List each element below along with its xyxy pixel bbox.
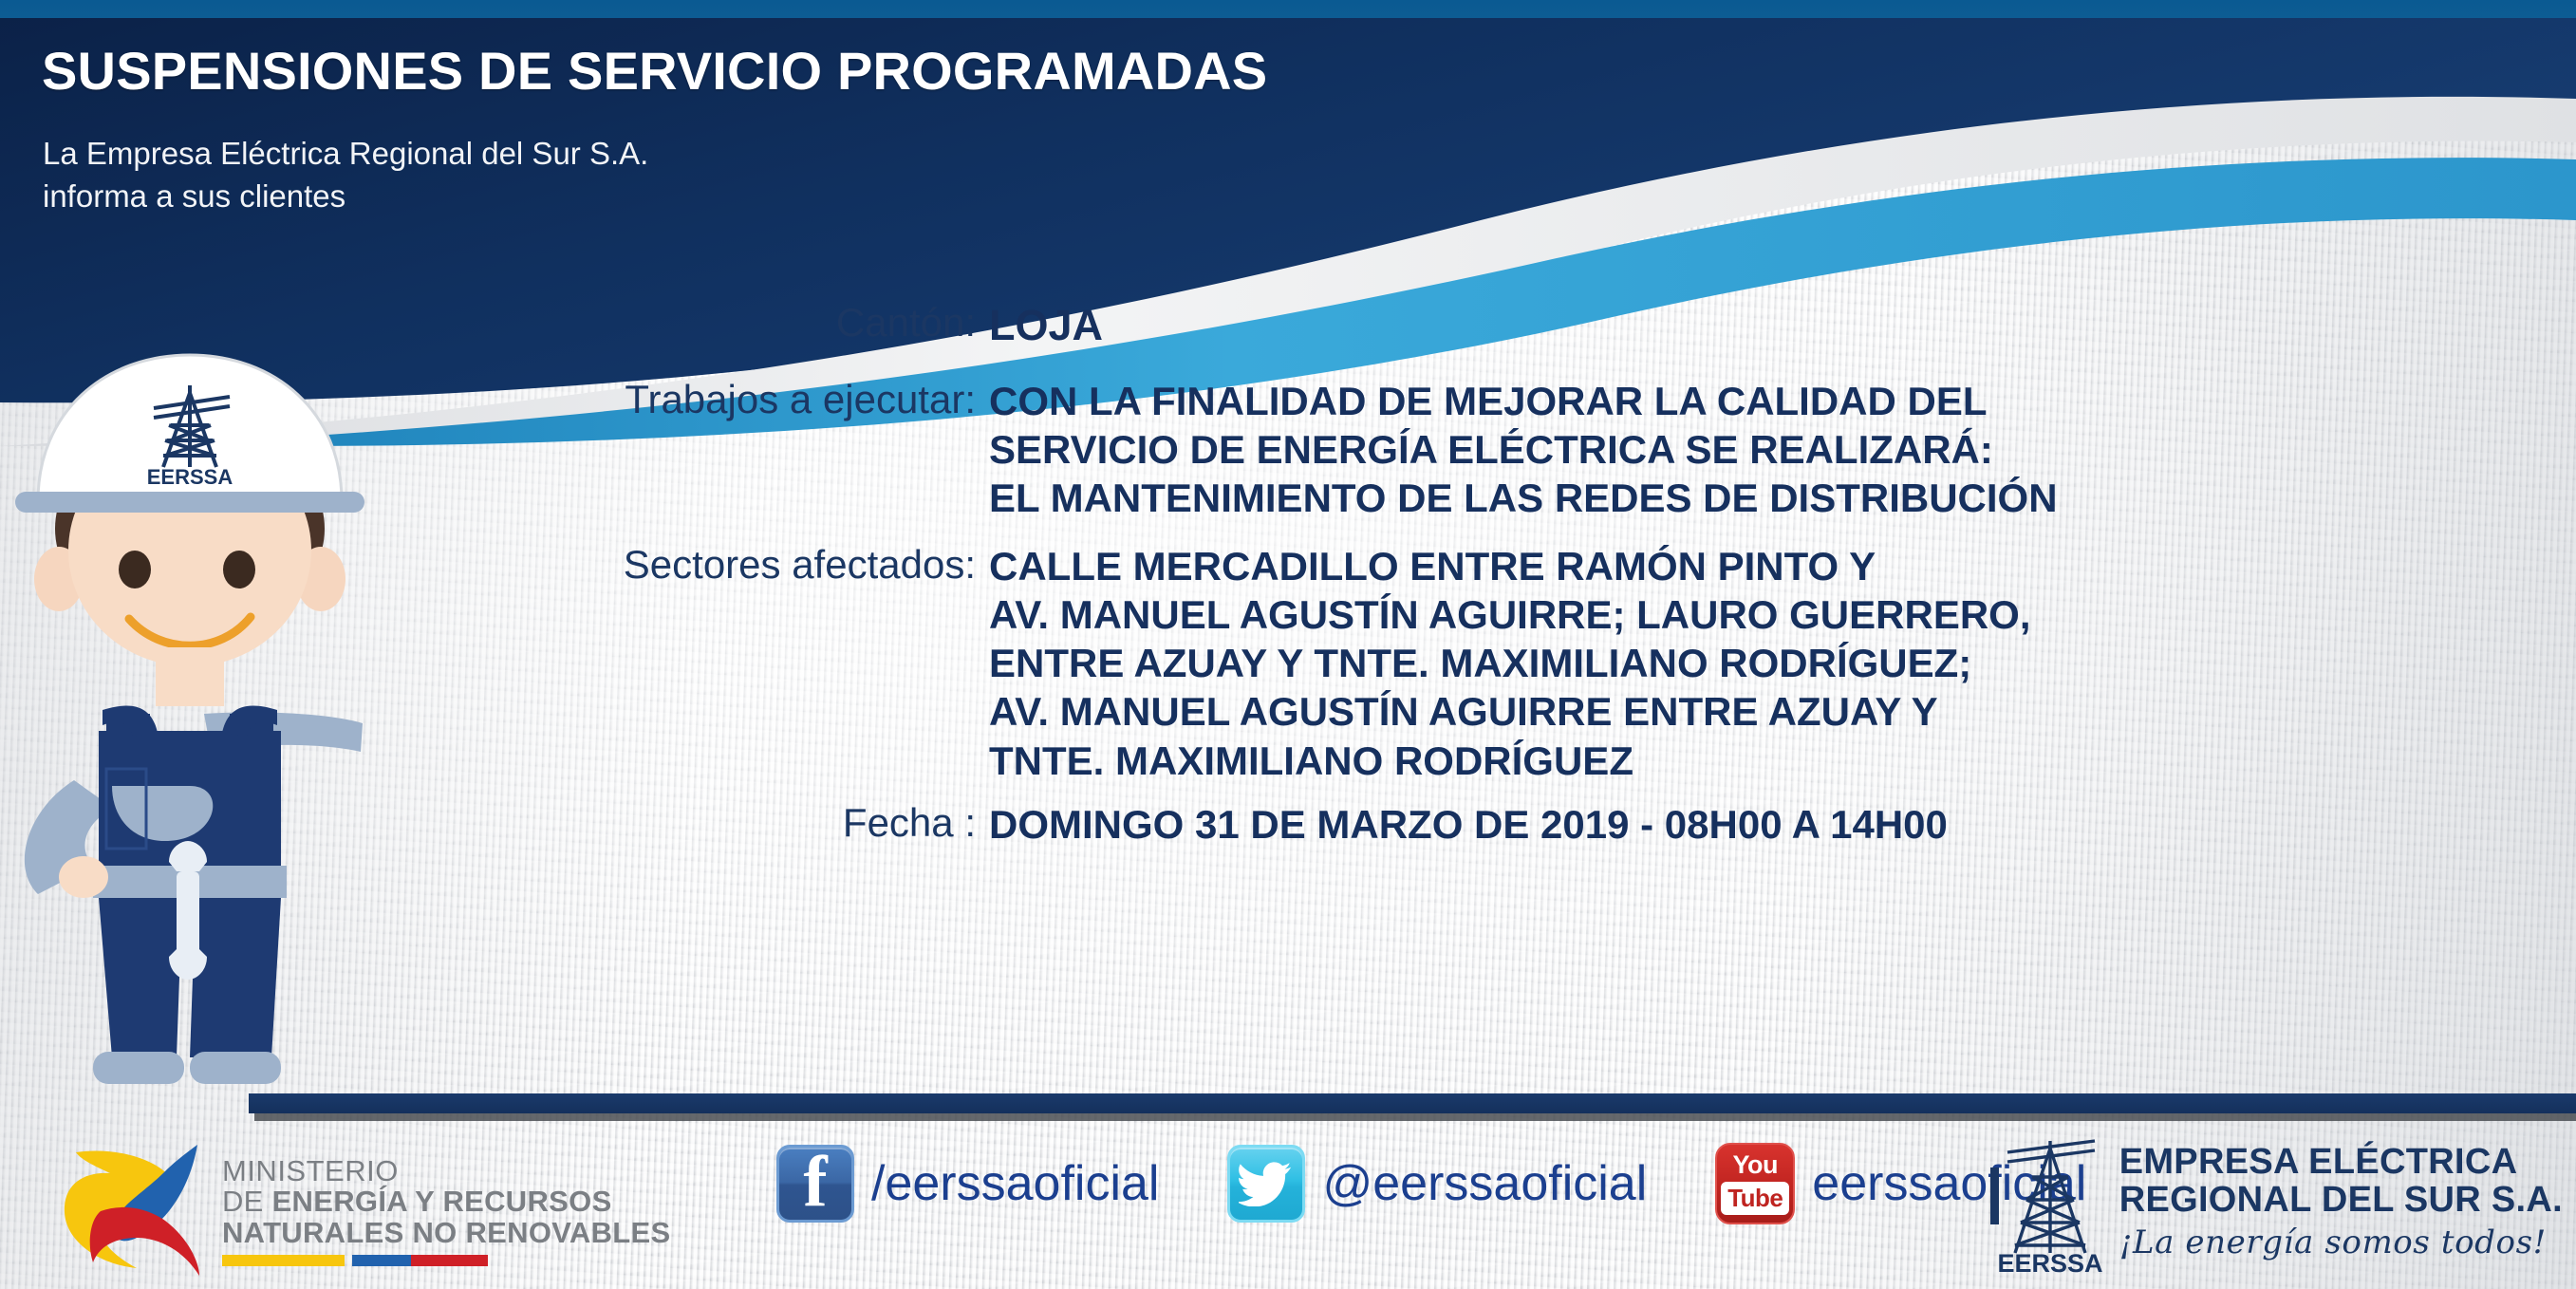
- svg-text:EERSSA: EERSSA: [147, 465, 233, 489]
- ministry-logo-block: MINISTERIO DE ENERGÍA Y RECURSOS NATURAL…: [55, 1130, 671, 1281]
- header-subtitle: La Empresa Eléctrica Regional del Sur S.…: [43, 133, 648, 217]
- sectores-line: AV. MANUEL AGUSTÍN AGUIRRE ENTRE AZUAY Y: [989, 687, 2031, 736]
- row-trabajos: Trabajos a ejecutar: CON LA FINALIDAD DE…: [0, 377, 2576, 523]
- poster-root: SUSPENSIONES DE SERVICIO PROGRAMADAS La …: [0, 0, 2576, 1289]
- twitter-icon[interactable]: [1227, 1145, 1305, 1223]
- youtube-icon[interactable]: You Tube: [1715, 1143, 1795, 1224]
- eerssa-slogan: ¡La energía somos todos!: [2119, 1224, 2563, 1261]
- trabajos-line: CON LA FINALIDAD DE MEJORAR LA CALIDAD D…: [989, 377, 2058, 425]
- eerssa-logo-block: EERSSA EMPRESA ELÉCTRICA REGIONAL DEL SU…: [1990, 1128, 2563, 1278]
- facebook-link[interactable]: /eerssaoficial: [776, 1145, 1159, 1223]
- row-sectores: Sectores afectados: CALLE MERCADILLO ENT…: [0, 542, 2576, 785]
- value-sectores: CALLE MERCADILLO ENTRE RAMÓN PINTO Y AV.…: [989, 542, 2031, 785]
- sectores-line: AV. MANUEL AGUSTÍN AGUIRRE; LAURO GUERRE…: [989, 590, 2031, 639]
- value-fecha: DOMINGO 31 DE MARZO DE 2019 - 08H00 A 14…: [989, 800, 1948, 849]
- top-accent-strip: [0, 0, 2576, 18]
- social-links: /eerssaoficial @eerssaoficial You Tube e…: [776, 1143, 2086, 1224]
- notice-details: Cantón: LOJA Trabajos a ejecutar: CON LA…: [0, 300, 2576, 849]
- ecuador-flag-bar: [222, 1255, 488, 1266]
- twitter-bird-glyph: [1239, 1161, 1294, 1206]
- ecuador-swoosh-icon: [55, 1130, 215, 1281]
- footer-divider-bar: [249, 1093, 2576, 1113]
- twitter-handle: @eerssaoficial: [1322, 1155, 1647, 1212]
- facebook-icon[interactable]: [776, 1145, 854, 1223]
- value-trabajos: CON LA FINALIDAD DE MEJORAR LA CALIDAD D…: [989, 377, 2058, 523]
- worker-mascot-illustration: EERSSA: [0, 334, 380, 1093]
- eerssa-tower-icon: EERSSA: [1990, 1128, 2110, 1278]
- ministry-line-2-strong: ENERGÍA Y RECURSOS: [272, 1185, 612, 1218]
- sectores-line: CALLE MERCADILLO ENTRE RAMÓN PINTO Y: [989, 542, 2031, 590]
- youtube-you-text: You: [1733, 1152, 1779, 1178]
- trabajos-line: EL MANTENIMIENTO DE LAS REDES DE DISTRIB…: [989, 474, 2058, 522]
- ministry-line-2-prefix: DE: [222, 1185, 272, 1218]
- trabajos-line: SERVICIO DE ENERGÍA ELÉCTRICA SE REALIZA…: [989, 425, 2058, 474]
- value-canton: LOJA: [989, 300, 1103, 352]
- twitter-link[interactable]: @eerssaoficial: [1227, 1145, 1647, 1223]
- eerssa-name-line-2: REGIONAL DEL SUR S.A.: [2119, 1182, 2563, 1220]
- ministry-text: MINISTERIO DE ENERGÍA Y RECURSOS NATURAL…: [222, 1145, 671, 1266]
- row-fecha: Fecha : DOMINGO 31 DE MARZO DE 2019 - 08…: [0, 800, 2576, 849]
- row-canton: Cantón: LOJA: [0, 300, 2576, 352]
- footer: MINISTERIO DE ENERGÍA Y RECURSOS NATURAL…: [0, 1122, 2576, 1289]
- subtitle-line-2: informa a sus clientes: [43, 176, 648, 218]
- footer-divider-shadow: [254, 1113, 2576, 1121]
- eerssa-mark-text: EERSSA: [1997, 1249, 2102, 1278]
- eerssa-name-block: EMPRESA ELÉCTRICA REGIONAL DEL SUR S.A. …: [2119, 1144, 2563, 1261]
- eerssa-name-line-1: EMPRESA ELÉCTRICA: [2119, 1144, 2563, 1182]
- ministry-line-1: MINISTERIO: [222, 1156, 671, 1186]
- ministry-line-3: NATURALES NO RENOVABLES: [222, 1218, 671, 1248]
- sectores-line: TNTE. MAXIMILIANO RODRÍGUEZ: [989, 737, 2031, 785]
- page-title: SUSPENSIONES DE SERVICIO PROGRAMADAS: [42, 40, 1267, 102]
- facebook-handle: /eerssaoficial: [871, 1155, 1159, 1212]
- youtube-tube-text: Tube: [1721, 1182, 1789, 1215]
- ministry-line-2: DE ENERGÍA Y RECURSOS: [222, 1186, 671, 1217]
- sectores-line: ENTRE AZUAY Y TNTE. MAXIMILIANO RODRÍGUE…: [989, 639, 2031, 687]
- subtitle-line-1: La Empresa Eléctrica Regional del Sur S.…: [43, 133, 648, 176]
